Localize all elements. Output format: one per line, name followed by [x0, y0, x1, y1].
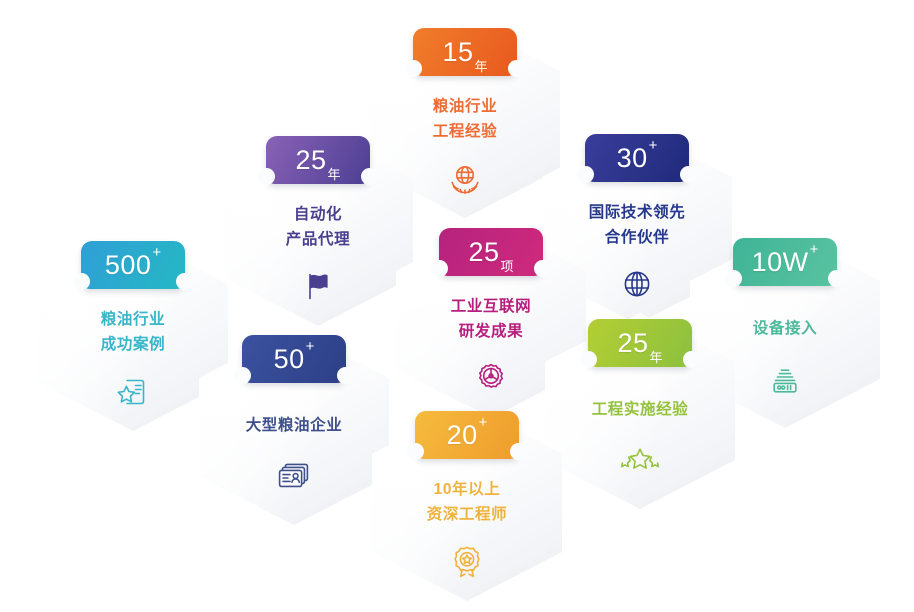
hex-cell-automation-product-agency[interactable]: 25年自动化产品代理 — [223, 130, 413, 326]
hex-stat-number: 15 — [442, 39, 473, 66]
hex-stat-tab: 20+ — [415, 411, 519, 459]
hex-stat-unit: 项 — [501, 260, 514, 276]
globe-wheat-icon — [370, 162, 560, 196]
hex-stat-tab: 25年 — [266, 136, 370, 184]
flag-icon — [223, 270, 413, 302]
hex-cell-grain-oil-engineering-experience[interactable]: 15年粮油行业工程经验 — [370, 22, 560, 218]
hex-stat-tab: 25项 — [439, 228, 543, 276]
hex-stat-tab: 50+ — [242, 335, 346, 383]
hex-stat-unit: + — [306, 335, 315, 354]
hex-stat-number: 25 — [617, 330, 648, 357]
hex-stat-unit: + — [479, 411, 488, 430]
hex-stat-number: 25 — [468, 239, 499, 266]
hex-stat-tab: 500+ — [81, 241, 185, 289]
hex-stat-unit: 年 — [650, 351, 663, 367]
hex-stat-number: 50 — [274, 346, 305, 373]
hex-stat-number: 30 — [617, 145, 648, 172]
hex-cell-senior-engineers[interactable]: 20+10年以上资深工程师 — [372, 405, 562, 601]
three-stars-icon — [545, 445, 735, 475]
hex-stat-tab: 25年 — [588, 319, 692, 367]
hex-stat-number: 500 — [105, 252, 152, 279]
infographic-canvas: 15年粮油行业工程经验25年自动化产品代理30+国际技术领先合作伙伴500+粮油… — [0, 0, 914, 612]
hex-cell-engineering-implementation-experience[interactable]: 25年工程实施经验 — [545, 313, 735, 509]
hex-stat-unit: 年 — [328, 168, 341, 184]
hex-stat-unit: + — [810, 238, 819, 257]
hex-stat-number: 25 — [295, 147, 326, 174]
hex-stat-number: 20 — [447, 422, 478, 449]
hex-stat-number: 10W — [752, 249, 809, 276]
hex-stat-unit: 年 — [475, 60, 488, 76]
hex-cell-large-grain-oil-enterprises[interactable]: 50+大型粮油企业 — [199, 329, 389, 525]
medal-icon — [372, 545, 562, 579]
hex-stat-tab: 30+ — [585, 134, 689, 182]
hex-stat-tab: 15年 — [413, 28, 517, 76]
hex-stat-unit: + — [152, 241, 161, 260]
globe-icon — [542, 268, 732, 300]
certificate-star-icon — [38, 375, 228, 409]
hex-stat-unit: + — [649, 134, 658, 153]
id-cards-icon — [199, 461, 389, 491]
server-icon — [690, 364, 880, 396]
hex-stat-tab: 10W+ — [733, 238, 837, 286]
gear-icon — [396, 362, 586, 396]
